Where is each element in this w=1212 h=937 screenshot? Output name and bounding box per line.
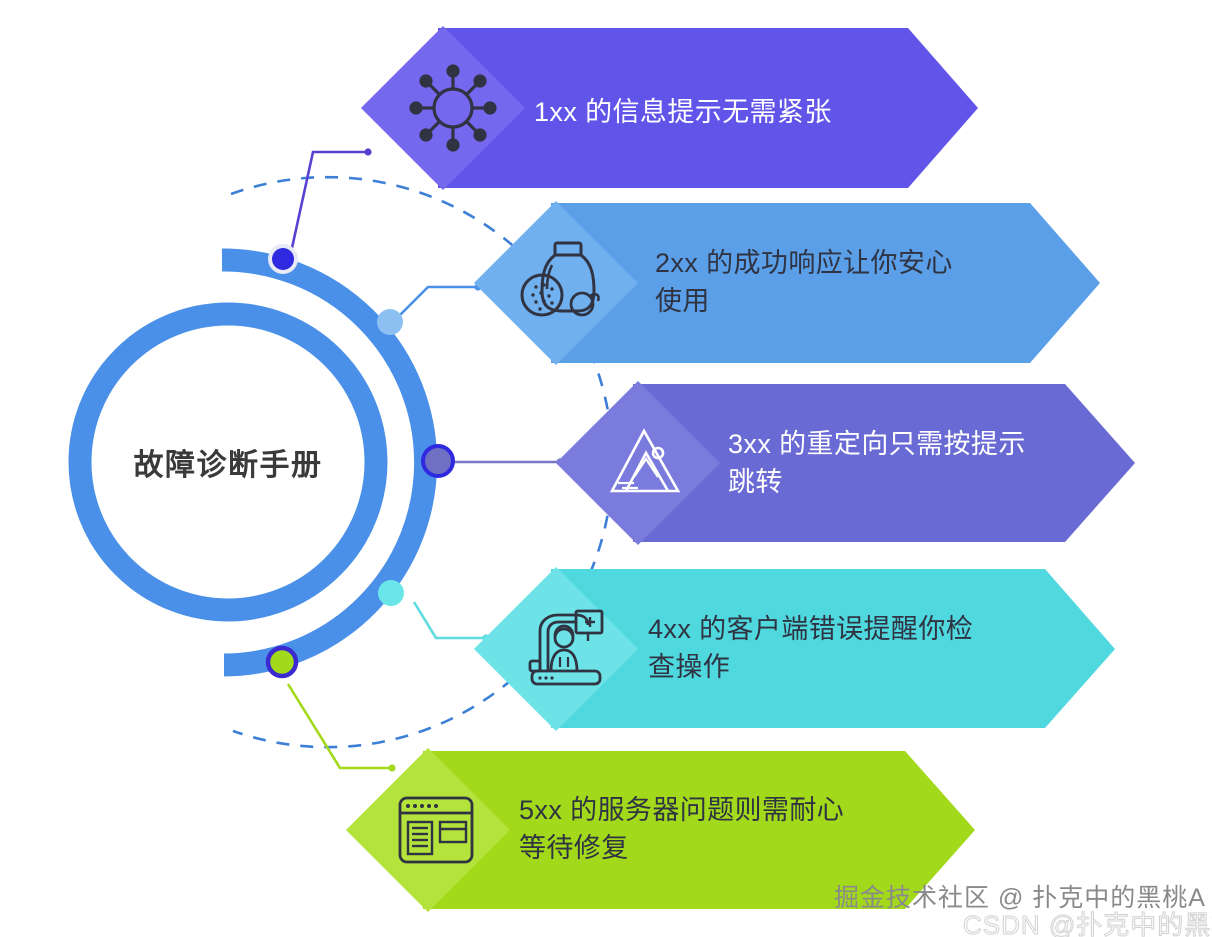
arc-dot-5xx	[268, 648, 296, 676]
connector-4xx	[414, 602, 490, 642]
banner-4xx[interactable]	[474, 567, 1115, 731]
connector-2xx	[392, 283, 482, 323]
arc-dot-1xx	[268, 244, 298, 274]
arc-dot-2xx	[377, 309, 403, 335]
banner-2xx[interactable]	[474, 201, 1100, 365]
connector-5xx	[288, 684, 396, 772]
connector-1xx	[290, 148, 372, 257]
center-title: 故障诊断手册	[134, 440, 323, 484]
infographic-canvas: 故障诊断手册 1xx 的信息提示无需紧张 2xx 的成功响应让你安心 使用 3x…	[0, 0, 1212, 937]
banner-3xx[interactable]	[556, 381, 1135, 545]
banner-1xx[interactable]	[361, 26, 978, 190]
connector-3xx	[449, 458, 564, 465]
watermark-csdn: CSDN @扑克中的黑桃A	[963, 905, 1212, 937]
arc-dot-4xx	[378, 580, 404, 606]
arc-dot-3xx	[423, 446, 453, 476]
